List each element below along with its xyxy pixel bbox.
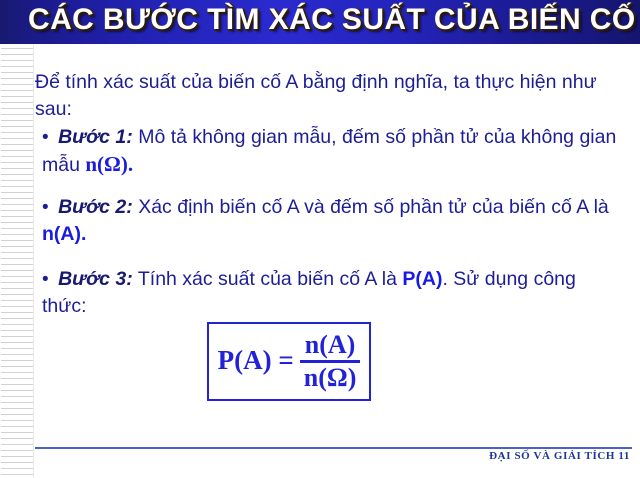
formula-denominator: n(Ω) [300,363,361,391]
formula-numerator: n(A) [301,332,360,360]
step-highlight-2: n(A) [42,223,81,245]
bullet-icon-3: • [42,269,53,290]
formula-left-hand-side: P(A) = [218,347,300,376]
step-label-3: Bước 3: [58,268,133,290]
step-text-3-before: Tính xác suất của biến cố A là [138,268,397,290]
step-item-3: • Bước 3: Tính xác suất của biến cố A là… [42,266,617,320]
step-highlight-1: n(Ω) [85,152,127,176]
slide-canvas: CÁC BƯỚC TÌM XÁC SUẤT CỦA BIẾN CỐ : Để t… [0,0,640,478]
slide-content: Để tính xác suất của biến cố A bằng định… [0,44,640,478]
step-text-2-before: Xác định biến cố A và đếm số phần tử của… [138,196,609,218]
formula-fraction: n(A) n(Ω) [300,332,361,391]
step-highlight-3: P(A) [402,268,442,290]
formula-expression: P(A) = n(A) n(Ω) [209,324,369,399]
footer-divider [35,447,632,449]
bullet-icon-1: • [42,127,53,148]
formula-box: P(A) = n(A) n(Ω) [207,322,371,401]
footer-label: ĐẠI SỐ VÀ GIẢI TÍCH 11 [489,450,630,462]
step-text-2-after: . [81,223,86,245]
bullet-icon-2: • [42,197,53,218]
intro-paragraph: Để tính xác suất của biến cố A bằng định… [35,69,615,123]
step-item-1: • Bước 1: Mô tả không gian mẫu, đếm số p… [42,124,617,179]
step-label-2: Bước 2: [58,196,133,218]
page-title: CÁC BƯỚC TÌM XÁC SUẤT CỦA BIẾN CỐ : [28,3,640,37]
step-text-1-after: . [128,152,133,176]
slide-title-bar: CÁC BƯỚC TÌM XÁC SUẤT CỦA BIẾN CỐ : [0,0,640,44]
step-item-2: • Bước 2: Xác định biến cố A và đếm số p… [42,194,617,248]
step-label-1: Bước 1: [58,126,133,148]
